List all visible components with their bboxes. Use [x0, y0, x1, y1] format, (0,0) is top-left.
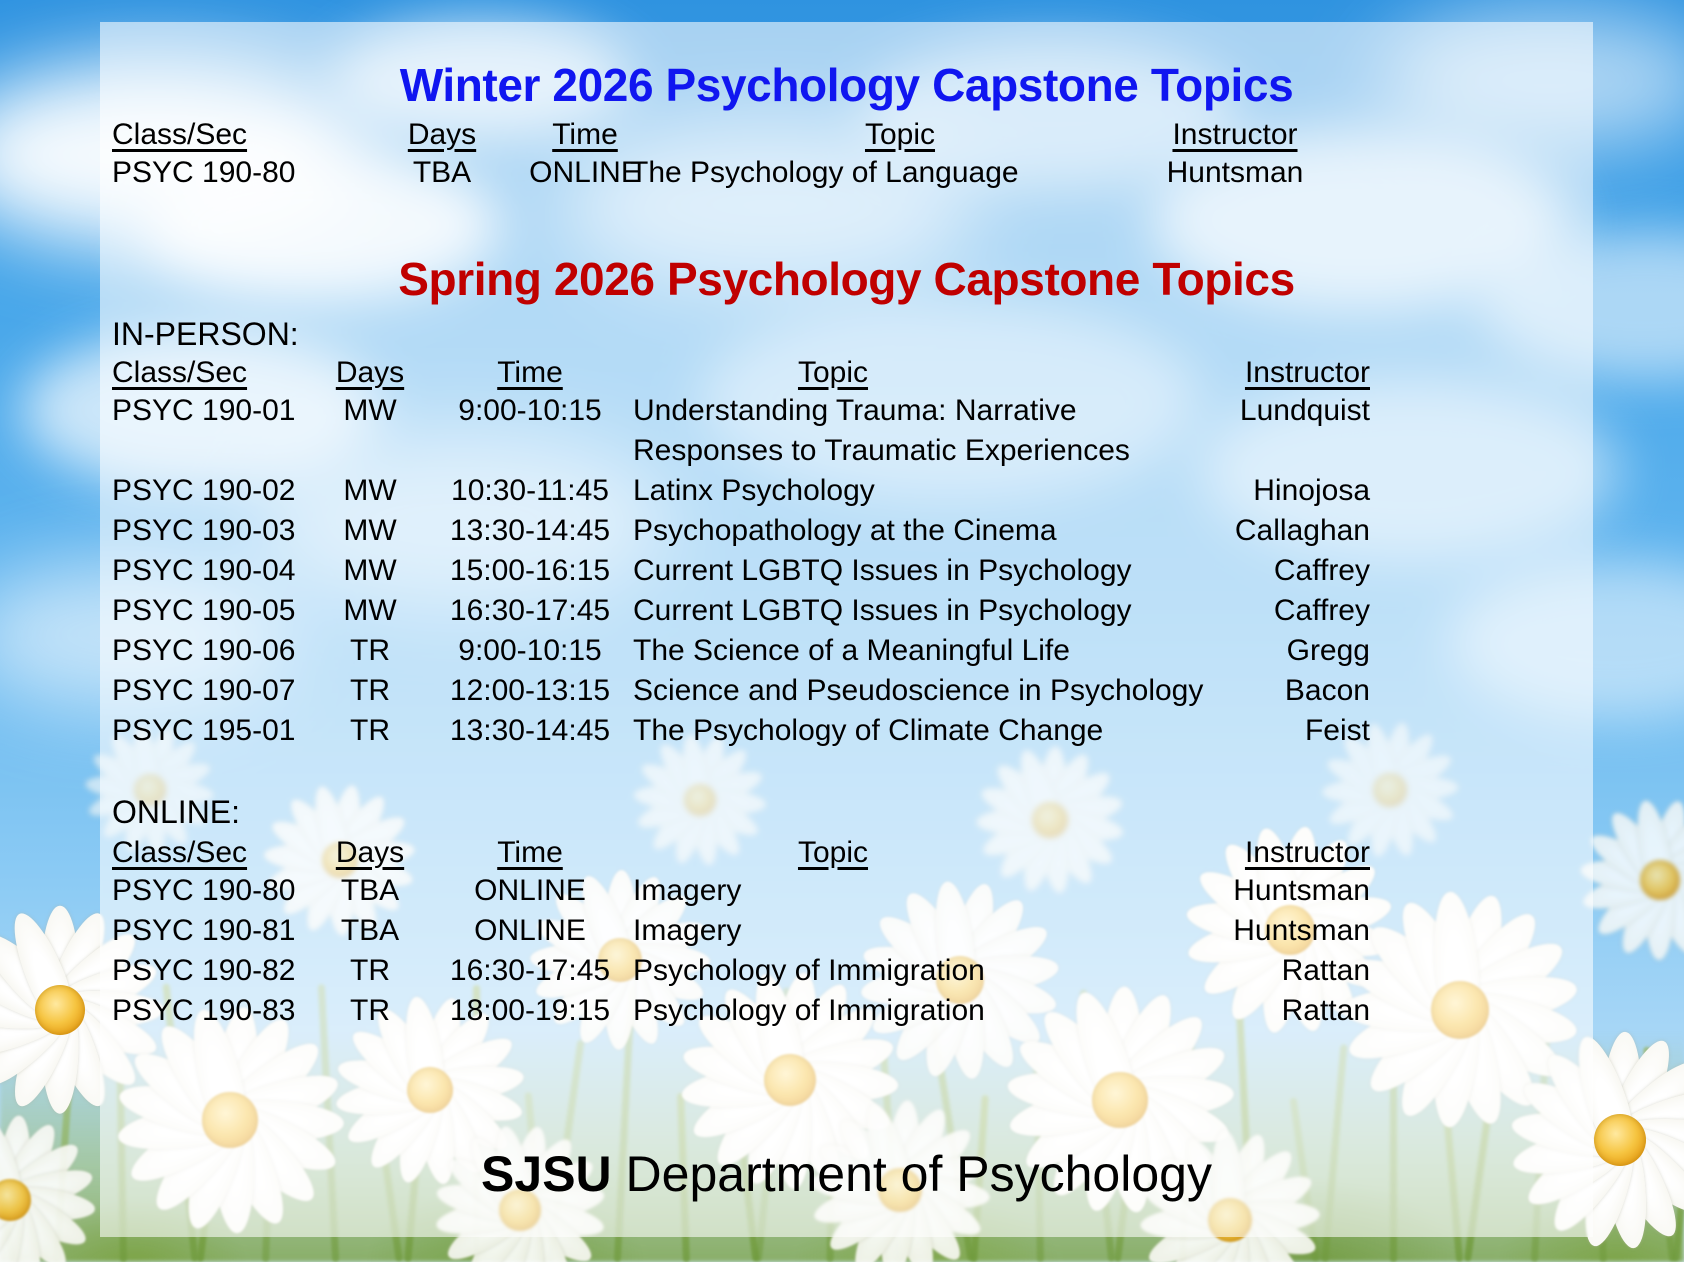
column-header-topic: Topic: [798, 356, 868, 390]
column-header-cell-instructor: Instructor: [1100, 118, 1370, 152]
cell-time: ONLINE: [430, 914, 630, 948]
cell-days: TR: [300, 954, 440, 988]
cell-instructor: Huntsman: [1120, 874, 1370, 908]
cell-time: 16:30-17:45: [430, 954, 630, 988]
cell-days: TBA: [300, 874, 440, 908]
content-panel: Winter 2026 Psychology Capstone Topics C…: [100, 22, 1593, 1237]
cell-instructor: Huntsman: [1120, 914, 1370, 948]
column-header-instructor: Instructor: [1245, 356, 1370, 390]
cell-days: TBA: [300, 914, 440, 948]
cell-days: MW: [300, 394, 440, 428]
cell-instructor: Bacon: [1120, 674, 1370, 708]
column-header-time: Time: [497, 356, 563, 390]
cell-time: 9:00-10:15: [430, 394, 630, 428]
column-header-cell-topic: Topic: [733, 356, 933, 390]
daisy-center: [1640, 860, 1679, 899]
column-header-cell-time: Time: [430, 356, 630, 390]
column-header-instructor: Instructor: [1245, 836, 1370, 870]
column-header-days: Days: [408, 118, 476, 152]
cell-instructor: Huntsman: [1100, 156, 1370, 190]
column-header-days: Days: [336, 356, 404, 390]
in-person-label: IN-PERSON:: [112, 316, 299, 353]
cell-instructor: Caffrey: [1120, 594, 1370, 628]
cell-days: MW: [300, 554, 440, 588]
cell-time: 15:00-16:15: [430, 554, 630, 588]
footer-department: Department of Psychology: [612, 1146, 1212, 1202]
cell-instructor: Callaghan: [1120, 514, 1370, 548]
cell-instructor: Rattan: [1120, 994, 1370, 1028]
column-header-cell-time: Time: [430, 836, 630, 870]
column-header-cell-instructor: Instructor: [1120, 836, 1370, 870]
column-header-time: Time: [497, 836, 563, 870]
cell-days: TBA: [372, 156, 512, 190]
cell-time: 18:00-19:15: [430, 994, 630, 1028]
column-header-class: Class/Sec: [112, 356, 247, 390]
column-header-cell-days: Days: [300, 836, 440, 870]
column-header-class: Class/Sec: [112, 118, 247, 152]
online-label: ONLINE:: [112, 794, 240, 831]
cell-days: TR: [300, 634, 440, 668]
spring-title: Spring 2026 Psychology Capstone Topics: [100, 252, 1593, 306]
cell-instructor: Lundquist: [1120, 394, 1370, 428]
cell-instructor: Hinojosa: [1120, 474, 1370, 508]
cell-time: ONLINE: [430, 874, 630, 908]
cell-time: 16:30-17:45: [430, 594, 630, 628]
column-header-cell-instructor: Instructor: [1120, 356, 1370, 390]
column-header-cell-days: Days: [372, 118, 512, 152]
cell-days: MW: [300, 594, 440, 628]
daisy-flower: [0, 1110, 100, 1262]
column-header-class: Class/Sec: [112, 836, 247, 870]
footer-sjsu: SJSU: [481, 1146, 612, 1202]
cell-instructor: Rattan: [1120, 954, 1370, 988]
cell-instructor: Gregg: [1120, 634, 1370, 668]
column-header-cell-days: Days: [300, 356, 440, 390]
cell-time: 13:30-14:45: [430, 714, 630, 748]
column-header-days: Days: [336, 836, 404, 870]
column-header-instructor: Instructor: [1172, 118, 1297, 152]
column-header-cell-topic: Topic: [733, 836, 933, 870]
column-header-cell-class: Class/Sec: [112, 118, 362, 152]
cell-instructor: Feist: [1120, 714, 1370, 748]
cell-topic: The Psychology of Language: [630, 156, 1170, 190]
cell-days: TR: [300, 674, 440, 708]
cell-time: 10:30-11:45: [430, 474, 630, 508]
column-header-cell-topic: Topic: [630, 118, 1170, 152]
cell-days: TR: [300, 714, 440, 748]
column-header-topic: Topic: [798, 836, 868, 870]
cell-instructor: Caffrey: [1120, 554, 1370, 588]
cell-time: 9:00-10:15: [430, 634, 630, 668]
cell-time: 12:00-13:15: [430, 674, 630, 708]
cell-days: TR: [300, 994, 440, 1028]
cell-class: PSYC 190-80: [112, 156, 362, 190]
column-header-topic: Topic: [865, 118, 935, 152]
column-header-time: Time: [552, 118, 618, 152]
department-footer: SJSU Department of Psychology: [100, 1145, 1593, 1203]
cell-topic-continued: Responses to Traumatic Experiences: [633, 434, 1253, 468]
winter-title: Winter 2026 Psychology Capstone Topics: [100, 58, 1593, 112]
cell-days: MW: [300, 474, 440, 508]
cell-days: MW: [300, 514, 440, 548]
cell-time: 13:30-14:45: [430, 514, 630, 548]
